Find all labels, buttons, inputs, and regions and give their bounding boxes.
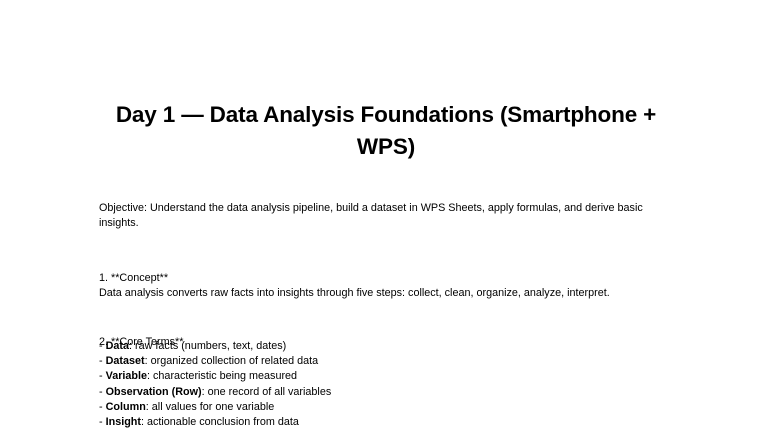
bullet-marker: - <box>99 386 103 398</box>
term-label: Insight <box>106 416 141 428</box>
list-item: - Observation (Row): one record of all v… <box>99 385 673 400</box>
page-title: Day 1 — Data Analysis Foundations (Smart… <box>99 99 673 163</box>
document-page: Day 1 — Data Analysis Foundations (Smart… <box>0 0 784 441</box>
term-definition: : actionable conclusion from data <box>141 416 299 428</box>
list-item: - Variable: characteristic being measure… <box>99 369 673 384</box>
section-heading-concept: 1. **Concept** <box>99 271 673 286</box>
term-label: Column <box>106 401 146 413</box>
term-label: Observation (Row) <box>106 386 202 398</box>
term-definition: : one record of all variables <box>202 386 332 398</box>
bullet-marker: - <box>99 355 103 367</box>
term-label: Variable <box>106 370 147 382</box>
term-definition: : organized collection of related data <box>145 355 318 367</box>
list-item: - Insight: actionable conclusion from da… <box>99 415 673 430</box>
list-item: - Column: all values for one variable <box>99 400 673 415</box>
term-label: Dataset <box>106 355 145 367</box>
term-definition: : characteristic being measured <box>147 370 297 382</box>
list-item: - Dataset: organized collection of relat… <box>99 354 673 369</box>
bullet-marker: - <box>99 401 103 413</box>
term-definition: : raw facts (numbers, text, dates) <box>129 340 286 352</box>
bullet-marker: - <box>99 370 103 382</box>
bullet-marker: - <box>99 416 103 428</box>
term-definition: : all values for one variable <box>146 401 274 413</box>
term-label: Data <box>106 340 129 352</box>
list-item: - Data: raw facts (numbers, text, dates) <box>99 339 673 354</box>
core-terms-list: - Data: raw facts (numbers, text, dates)… <box>99 339 673 430</box>
bullet-marker: - <box>99 340 103 352</box>
objective-paragraph: Objective: Understand the data analysis … <box>99 201 673 231</box>
section-body-concept: Data analysis converts raw facts into in… <box>99 286 673 301</box>
